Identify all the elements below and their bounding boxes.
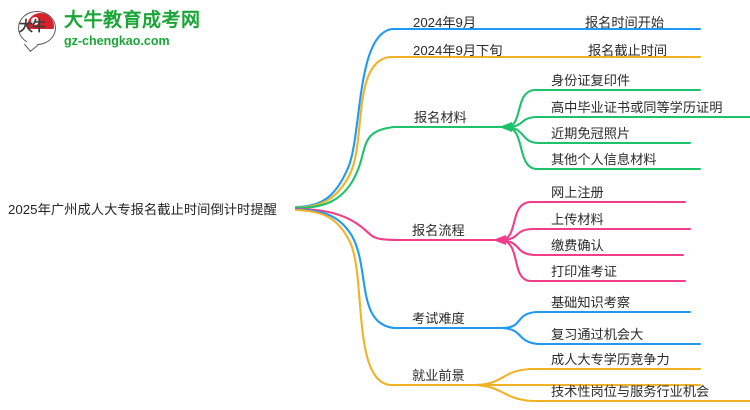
- branch-2-value[interactable]: 报名截止时间: [588, 40, 667, 59]
- branch-5-label[interactable]: 考试难度: [412, 311, 465, 326]
- branch-3-child-4[interactable]: 其他个人信息材料: [551, 152, 657, 167]
- branch-4-child-3[interactable]: 缴费确认: [551, 238, 604, 253]
- branch-6-child-2[interactable]: 技术性岗位与服务行业机会: [551, 384, 709, 399]
- branch-1-value[interactable]: 报名时间开始: [585, 12, 664, 31]
- arrowhead-green: [499, 122, 512, 132]
- branch-2-label[interactable]: 2024年9月下旬: [413, 40, 502, 59]
- branch-4-child-4[interactable]: 打印准考证: [551, 264, 617, 279]
- connector-branch-5: [296, 210, 502, 329]
- branch-5-child-2[interactable]: 复习通过机会大: [551, 327, 643, 342]
- connector-blue-child-1: [502, 312, 690, 328]
- mindmap-canvas: 大牛 大牛教育成考网 gz-chengkao.com: [0, 0, 750, 410]
- branch-5-child-1[interactable]: 基础知识考察: [551, 295, 630, 310]
- branch-6-child-1[interactable]: 成人大专学历竞争力: [551, 352, 670, 367]
- branch-6-label[interactable]: 就业前景: [412, 368, 465, 383]
- branch-4-label[interactable]: 报名流程: [412, 223, 465, 238]
- branch-4-child-2[interactable]: 上传材料: [551, 212, 604, 227]
- branch-3-child-1[interactable]: 身份证复印件: [551, 73, 630, 88]
- branch-3-child-2[interactable]: 高中毕业证书或同等学历证明: [551, 100, 722, 115]
- branch-4-child-1[interactable]: 网上注册: [551, 185, 604, 200]
- branch-1-label[interactable]: 2024年9月: [413, 12, 476, 31]
- connector-orange-child-1: [474, 369, 700, 385]
- arrowhead-pink: [493, 235, 506, 245]
- branch-3-child-3[interactable]: 近期免冠照片: [551, 126, 630, 141]
- root-node-label[interactable]: 2025年广州成人大专报名截止时间倒计时提醒: [8, 199, 277, 218]
- branch-3-label[interactable]: 报名材料: [414, 110, 467, 125]
- connector-branch-3: [296, 127, 506, 208]
